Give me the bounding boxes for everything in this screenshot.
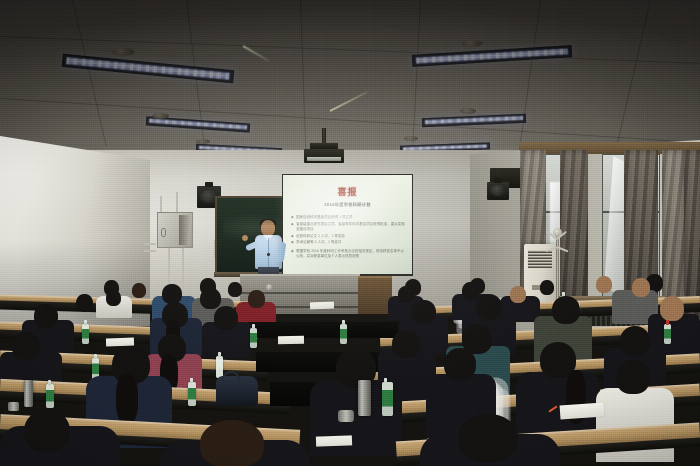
electrical-panel-box — [157, 212, 193, 248]
water-bottle — [250, 328, 257, 348]
audience-seating — [0, 276, 700, 466]
water-bottle — [82, 324, 89, 344]
paper-sheet — [310, 302, 334, 310]
audience-head — [616, 360, 650, 394]
panel-door — [179, 215, 190, 245]
audience-head — [214, 306, 238, 330]
bullet-marker: ◆ — [291, 234, 294, 239]
audience-head — [228, 282, 242, 297]
audience-head — [458, 414, 518, 462]
audience-head — [540, 280, 554, 295]
slide-bullet-text: 根据学校 2016 年度科研工作考核办法的相关规定，现将获奖名单予以公布，并对获… — [296, 249, 405, 258]
aisle-shadow — [248, 322, 398, 338]
slide-bullet-list: ◆ 国家自然科学基金项目获得 1 项立项 ◆ 省部级重点研究项目立项，省级青年科… — [291, 215, 405, 261]
slide-bullet: ◆ 学术论著等 2 人次、1 等奖评 — [291, 240, 405, 245]
audience-head — [510, 286, 526, 303]
presenter-head — [261, 220, 275, 236]
audience-head — [552, 296, 580, 324]
thermos-flask — [358, 380, 371, 416]
audience-head — [162, 284, 182, 304]
projection-screen: 喜报 2016年度学校科研计划 ◆ 国家自然科学基金项目获得 1 项立项 ◆ 省… — [282, 174, 413, 276]
paper-sheet — [316, 435, 352, 446]
audience-head — [200, 288, 221, 309]
projection-screen-surface: 喜报 2016年度学校科研计划 ◆ 国家自然科学基金项目获得 1 项立项 ◆ 省… — [283, 175, 412, 274]
audience-head — [106, 290, 121, 306]
slide-bullet: ◆ 省部级重点研究项目立项，省级青年科学基金项目获得批准，重点实验室建设项目 — [291, 222, 405, 231]
audience-head — [632, 278, 650, 297]
conduit-pipe — [144, 250, 156, 252]
audience-head — [76, 294, 93, 312]
water-bottle — [664, 324, 671, 344]
projector — [304, 149, 344, 163]
slide-bullet-text: 学术论著等 2 人次、1 等奖评 — [296, 240, 405, 245]
audience-head — [12, 332, 40, 360]
audience-head — [412, 300, 436, 324]
water-bottle — [46, 384, 54, 408]
audience-head — [34, 304, 58, 328]
water-bottle — [216, 356, 223, 378]
conduit-pipe — [144, 243, 156, 245]
slide-bullet-text: 优秀科研论文 2 人次、1 等奖励 — [296, 234, 405, 239]
bullet-marker: ◆ — [291, 215, 294, 220]
slide-bullet-text: 国家自然科学基金项目获得 1 项立项 — [296, 215, 405, 220]
audience-head — [476, 294, 502, 320]
audience-head — [200, 420, 264, 466]
audience-head — [660, 296, 684, 321]
audience-head — [398, 286, 414, 303]
air-conditioner-grill — [528, 250, 552, 268]
audience-head — [248, 290, 265, 308]
audience-head — [392, 330, 420, 358]
ponytail — [116, 374, 138, 424]
bullet-marker: ◆ — [291, 249, 294, 258]
slide-title: 喜报 — [283, 185, 412, 198]
bullet-marker: ◆ — [291, 240, 294, 245]
presenter-left-hand — [242, 235, 248, 241]
lapel-microphone-icon — [267, 253, 270, 256]
wall-speaker-right — [487, 182, 509, 200]
audience-head — [444, 348, 476, 380]
presenter — [247, 220, 291, 282]
audience-head — [462, 282, 479, 300]
water-bottle — [188, 382, 196, 406]
slide-bullet: ◆ 国家自然科学基金项目获得 1 项立项 — [291, 215, 405, 220]
paper-sheet — [278, 336, 304, 344]
audience-head — [596, 276, 612, 293]
lecture-hall-photo: 喜报 2016年度学校科研计划 ◆ 国家自然科学基金项目获得 1 项立项 ◆ 省… — [0, 0, 700, 466]
thermos-flask — [24, 380, 33, 407]
slide-subtitle: 2016年度学校科研计划 — [283, 202, 412, 208]
audience-head — [620, 326, 650, 356]
panel-latch — [161, 228, 166, 237]
slide-bullet-text: 省部级重点研究项目立项，省级青年科学基金项目获得批准，重点实验室建设项目 — [296, 222, 405, 231]
presenter-right-arm — [277, 242, 287, 263]
slide-bullet: ◆ 优秀科研论文 2 人次、1 等奖励 — [291, 234, 405, 239]
audience-head — [132, 283, 146, 298]
bullet-marker: ◆ — [291, 222, 294, 231]
thermos-cap — [338, 410, 354, 422]
thermos-cap — [8, 402, 19, 411]
backpack — [216, 376, 258, 406]
water-bottle — [382, 382, 393, 416]
audience-head — [24, 410, 70, 452]
water-bottle — [340, 324, 347, 344]
slide-bullet: ◆ 根据学校 2016 年度科研工作考核办法的相关规定，现将获奖名单予以公布，并… — [291, 249, 405, 258]
